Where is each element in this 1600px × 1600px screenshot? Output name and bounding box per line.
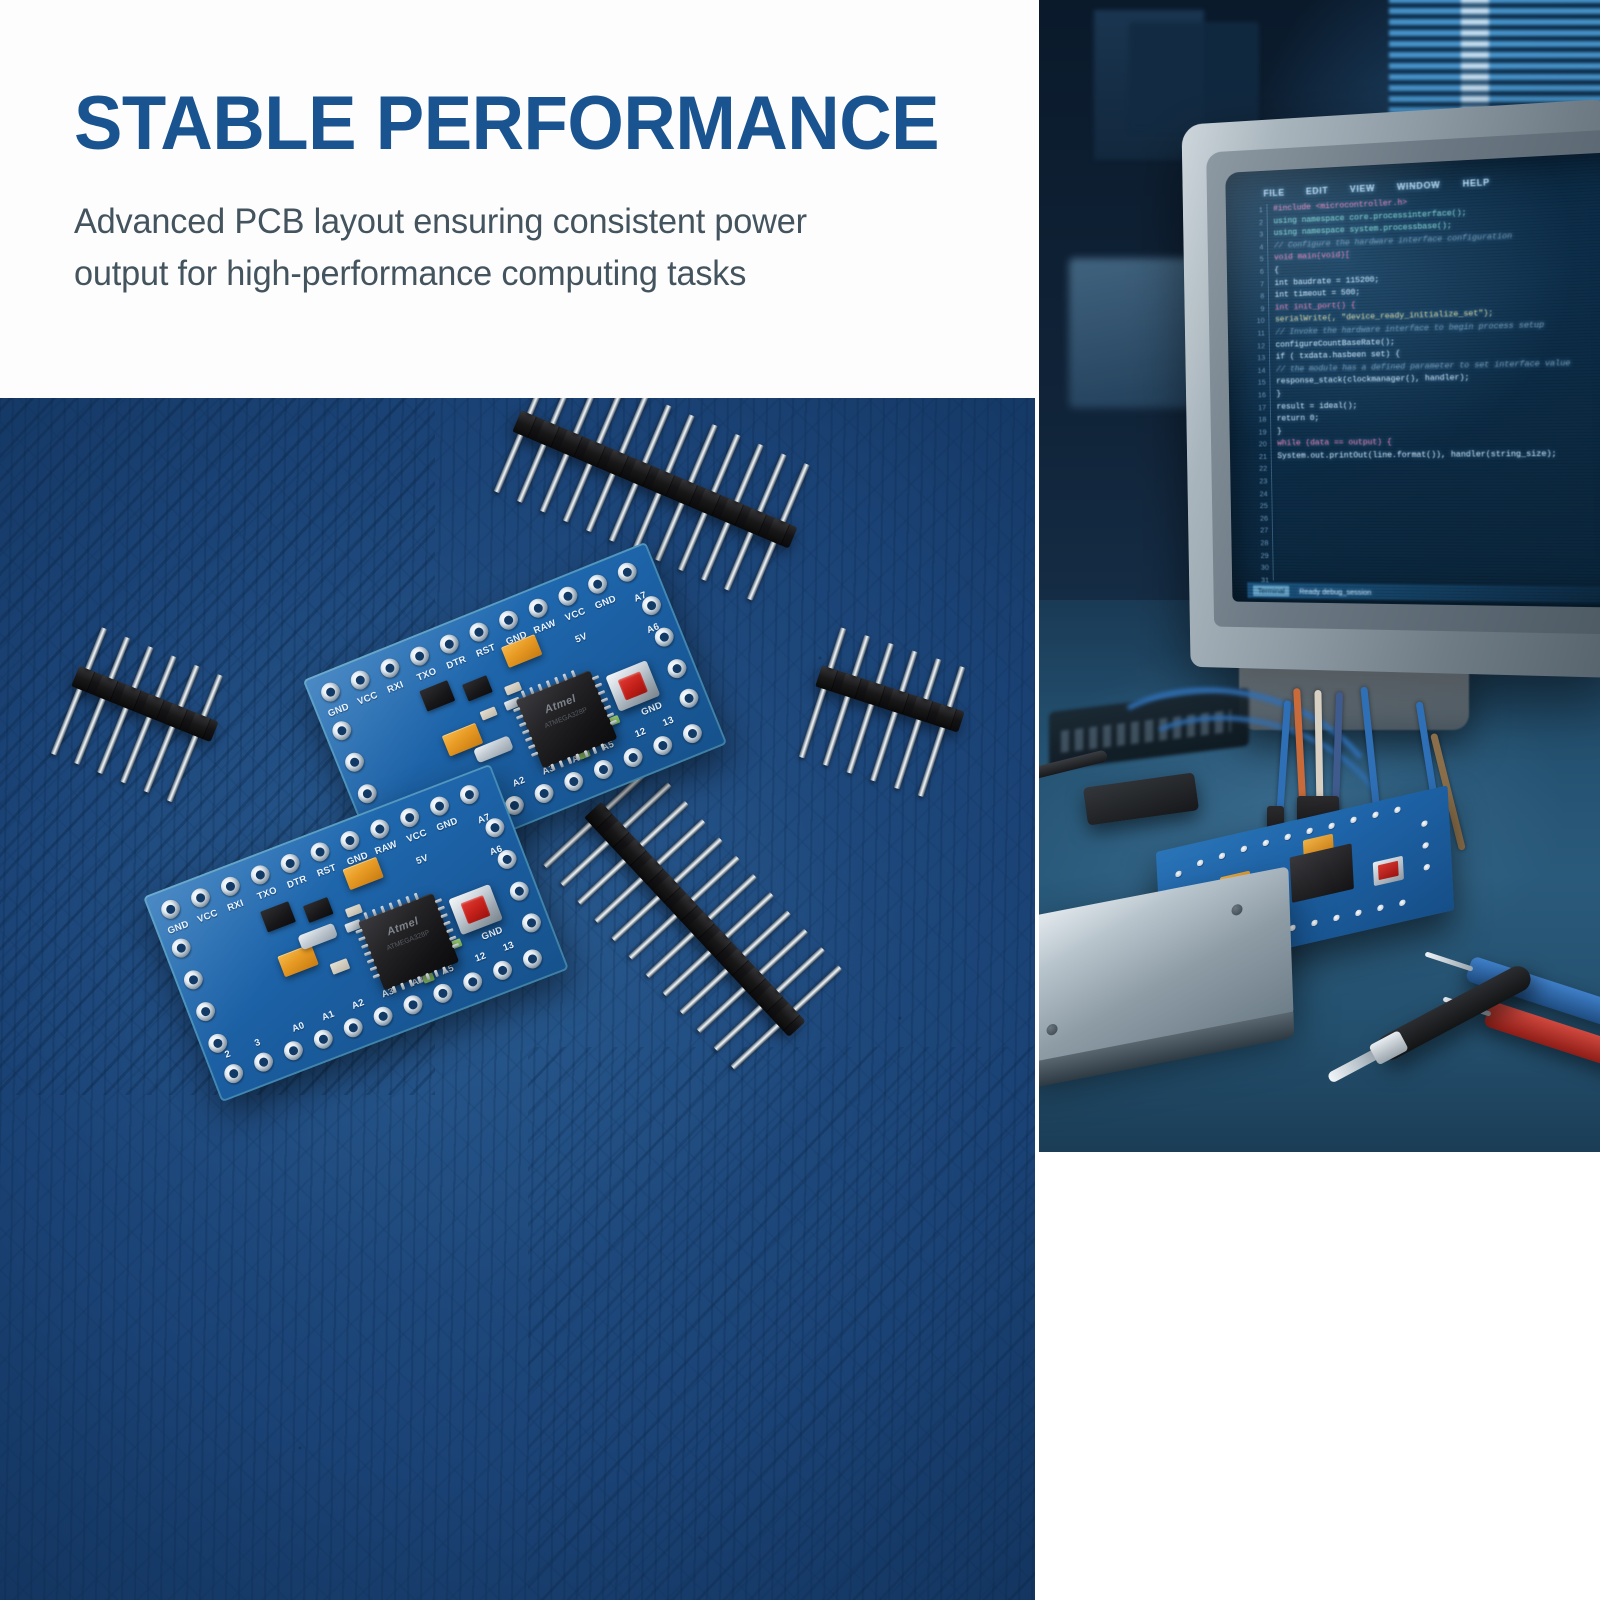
page-subtitle-line-2: output for high-performance computing ta… <box>74 248 985 300</box>
background-panel <box>1129 22 1259 132</box>
monitor-screen: FILE EDIT VIEW WINDOW HELP 1 2 3 4 5 6 7… <box>1225 151 1600 608</box>
atmel-microcontroller <box>1290 843 1354 903</box>
page-subtitle: Advanced PCB layout ensuring consistent … <box>74 196 985 300</box>
reset-button-cap <box>617 671 648 701</box>
reset-button <box>1373 856 1404 887</box>
page-subtitle-line-1: Advanced PCB layout ensuring consistent … <box>74 196 985 248</box>
monitor-bezel: FILE EDIT VIEW WINDOW HELP 1 2 3 4 5 6 7… <box>1206 128 1600 634</box>
pcb-via-dots <box>0 398 1035 1600</box>
product-photo: GND VCC RXI TXO DTR RST GND RAW VCC GND … <box>0 398 1035 1600</box>
header-block: STABLE PERFORMANCE Advanced PCB layout e… <box>0 0 1040 398</box>
reset-button-cap <box>460 895 491 925</box>
crt-monitor: FILE EDIT VIEW WINDOW HELP 1 2 3 4 5 6 7… <box>1182 99 1600 678</box>
lab-photo: FILE EDIT VIEW WINDOW HELP 1 2 3 4 5 6 7… <box>1039 0 1600 1152</box>
page-title: STABLE PERFORMANCE <box>74 84 943 164</box>
